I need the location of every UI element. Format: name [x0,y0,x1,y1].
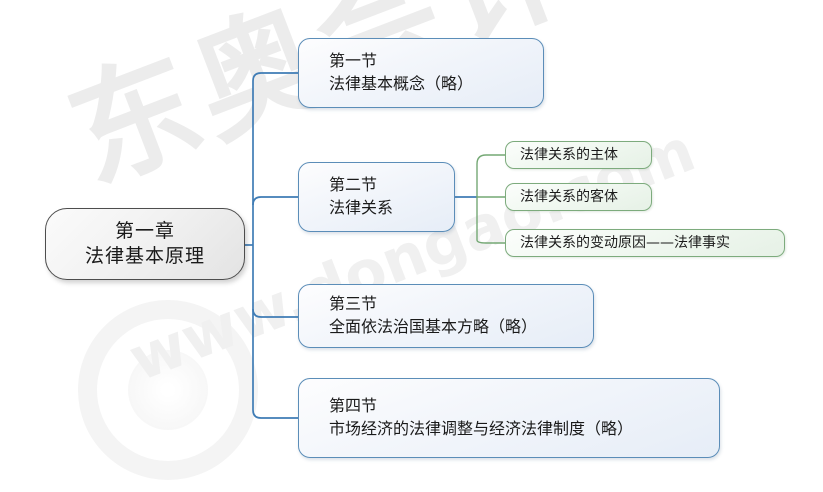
connector-green-child-3 [477,240,505,243]
node-legal-relation-change[interactable]: 法律关系的变动原因——法律事实 [505,229,785,257]
node-section-2[interactable]: 第二节 法律关系 [298,162,455,232]
node-root-line-2: 法律基本原理 [85,244,205,269]
node-section-1[interactable]: 第一节 法律基本概念（略） [298,38,544,108]
node-root-text: 第一章 法律基本原理 [85,219,205,269]
node-root-chapter-1[interactable]: 第一章 法律基本原理 [45,208,245,280]
connector-green-child-1 [477,155,505,164]
node-section-4[interactable]: 第四节 市场经济的法律调整与经济法律制度（略） [298,378,720,458]
node-legal-relation-object[interactable]: 法律关系的客体 [505,183,652,211]
node-legal-relation-subject-label: 法律关系的主体 [520,146,618,164]
connector-branch-1 [253,73,298,81]
node-legal-relation-object-label: 法律关系的客体 [520,188,618,206]
node-legal-relation-change-label: 法律关系的变动原因——法律事实 [520,234,730,252]
node-section-3-text: 第三节 全面依法治国基本方略（略） [329,293,537,338]
node-section-3-line-2: 全面依法治国基本方略（略） [329,316,537,339]
node-section-1-line-2: 法律基本概念（略） [329,73,473,96]
node-section-1-line-1: 第一节 [329,50,473,73]
mindmap-canvas: 东奥会计在线 www.dongao.com [0,0,823,492]
node-section-2-line-2: 法律关系 [329,197,393,220]
node-legal-relation-subject[interactable]: 法律关系的主体 [505,141,652,169]
node-section-3[interactable]: 第三节 全面依法治国基本方略（略） [298,284,594,348]
node-section-2-line-1: 第二节 [329,174,393,197]
node-section-1-text: 第一节 法律基本概念（略） [329,50,473,95]
node-section-3-line-1: 第三节 [329,293,537,316]
node-section-4-line-1: 第四节 [329,395,633,418]
connector-branch-2 [253,197,298,205]
node-section-4-line-2: 市场经济的法律调整与经济法律制度（略） [329,418,633,441]
connector-branch-4 [253,410,298,418]
node-root-line-1: 第一章 [85,219,205,244]
connector-branch-3 [253,309,298,317]
node-section-2-text: 第二节 法律关系 [329,174,393,219]
node-section-4-text: 第四节 市场经济的法律调整与经济法律制度（略） [329,395,633,440]
